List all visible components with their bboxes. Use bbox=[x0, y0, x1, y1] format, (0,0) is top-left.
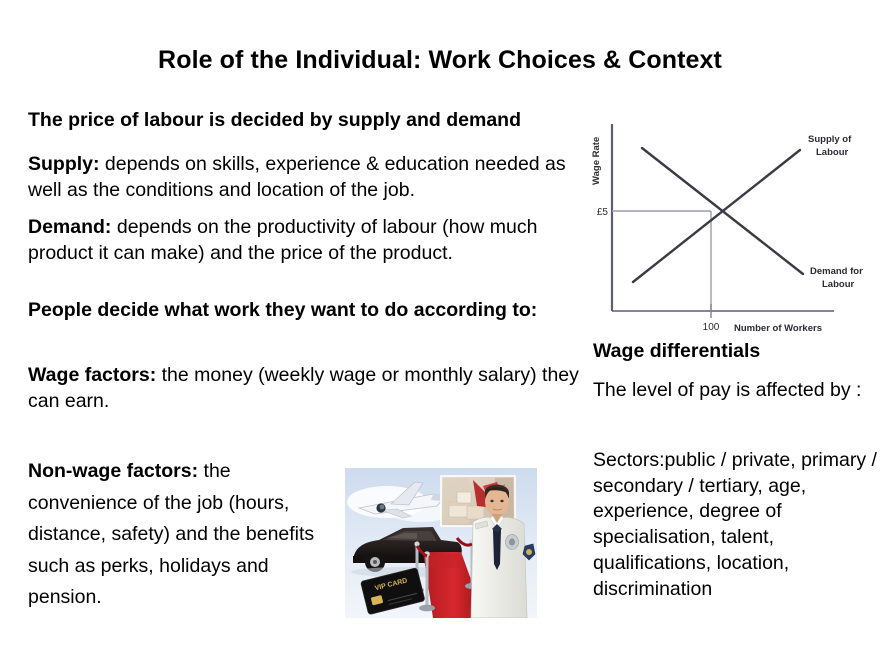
luxury-vip-collage-image: VIP CARD bbox=[345, 468, 537, 618]
wage-factors-label: Wage factors: bbox=[28, 364, 156, 386]
svg-text:Demand for: Demand for bbox=[810, 266, 863, 277]
chart-xlabel: Number of Workers bbox=[734, 323, 822, 334]
slide-canvas: Role of the Individual: Work Choices & C… bbox=[0, 0, 880, 660]
gift-box bbox=[457, 492, 471, 503]
level-of-pay-intro: The level of pay is affected by : bbox=[593, 378, 878, 403]
chart-ylabel: Wage Rate bbox=[591, 137, 602, 185]
chart-xtick-0: 100 bbox=[703, 322, 720, 333]
lead-statement: The price of labour is decided by supply… bbox=[28, 108, 588, 134]
demand-paragraph: Demand: depends on the productivity of l… bbox=[28, 215, 588, 267]
supply-paragraph: Supply: depends on skills, experience & … bbox=[28, 152, 588, 204]
wage-differentials-heading: Wage differentials bbox=[593, 340, 878, 363]
demand-label: Demand: bbox=[28, 216, 111, 238]
page-title: Role of the Individual: Work Choices & C… bbox=[0, 46, 880, 75]
supply-annotation-label: Supply of Labour bbox=[808, 134, 852, 158]
guard-badge bbox=[506, 535, 519, 550]
gift-box bbox=[467, 506, 484, 519]
supply-label: Supply: bbox=[28, 153, 100, 175]
non-wage-factors-label: Non-wage factors: bbox=[28, 460, 198, 482]
equilibrium-guides bbox=[612, 211, 711, 318]
svg-text:Labour: Labour bbox=[822, 279, 854, 290]
pay-factors-list: Sectors:public / private, primary / seco… bbox=[593, 448, 878, 602]
non-wage-factors-text: the convenience of the job (hours, dista… bbox=[28, 460, 314, 608]
svg-text:Labour: Labour bbox=[816, 147, 848, 158]
supply-text: depends on skills, experience & educatio… bbox=[28, 153, 566, 201]
demand-annotation-label: Demand for Labour bbox=[810, 266, 863, 290]
non-wage-factors-paragraph: Non-wage factors: the convenience of the… bbox=[28, 456, 328, 614]
supply-demand-chart: Wage Rate £5 100 Number of Workers Suppl… bbox=[588, 110, 880, 342]
wage-factors-paragraph: Wage factors: the money (weekly wage or … bbox=[28, 363, 588, 415]
necktie bbox=[493, 526, 501, 570]
supply-curve bbox=[633, 150, 800, 282]
svg-text:Supply of: Supply of bbox=[808, 134, 852, 145]
people-decide-heading: People decide what work they want to do … bbox=[28, 298, 588, 324]
chart-ytick-0: £5 bbox=[597, 207, 609, 218]
